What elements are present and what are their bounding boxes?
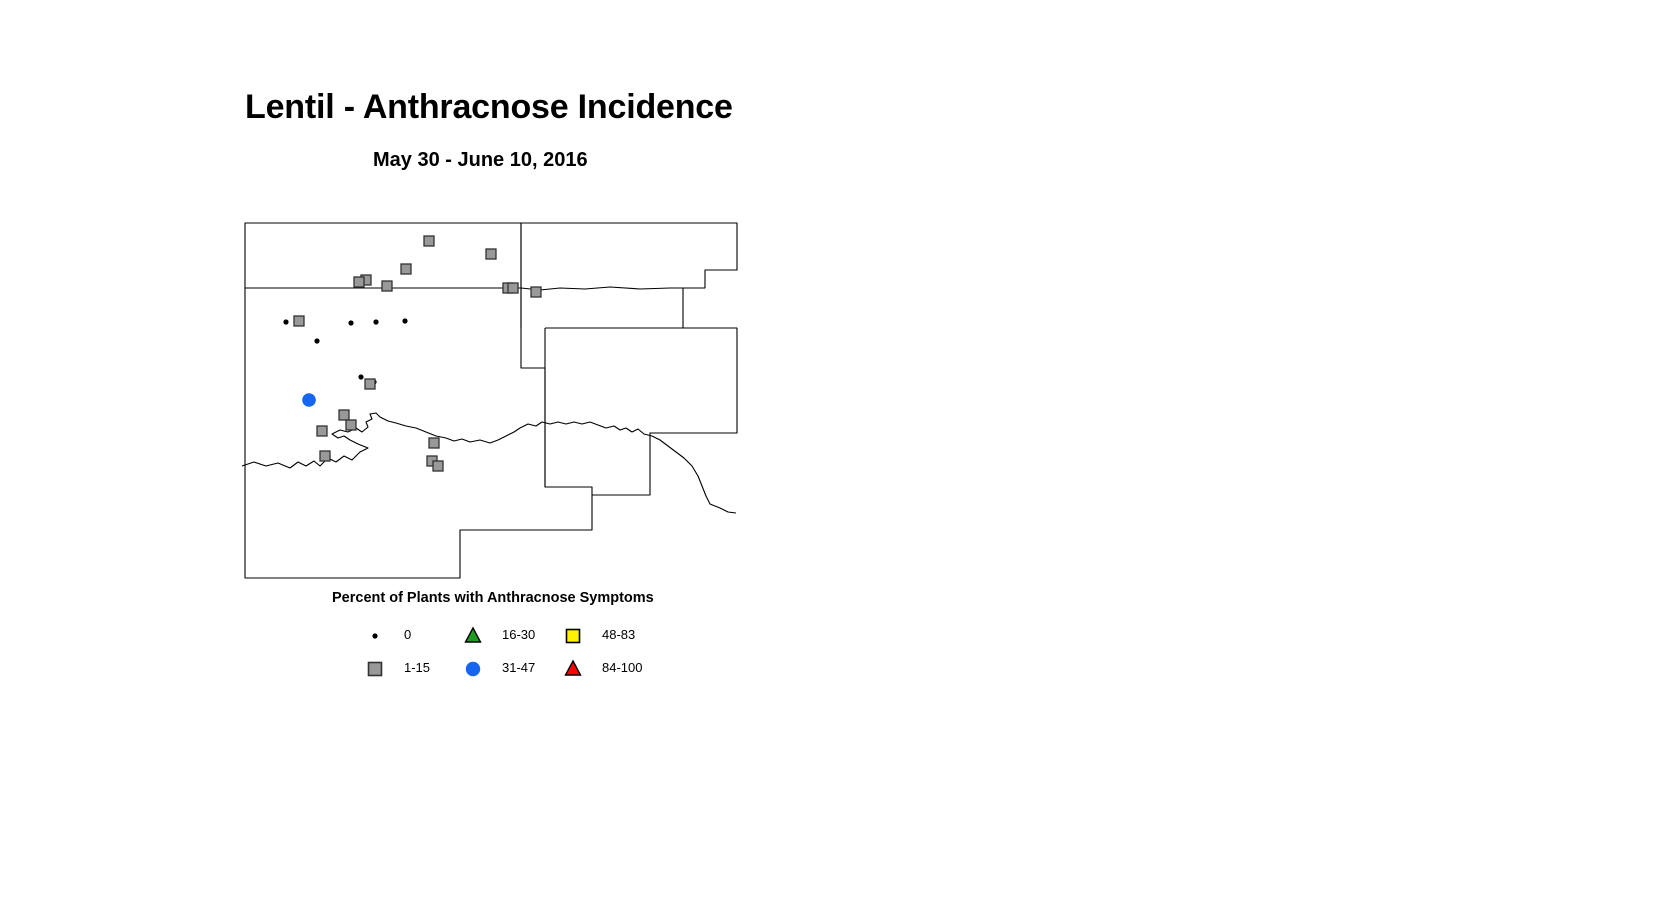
map-point-1-15 bbox=[294, 316, 304, 326]
legend-item-0[interactable]: 0 bbox=[362, 618, 460, 651]
map-point-1-15 bbox=[531, 287, 541, 297]
map-point-1-15 bbox=[429, 438, 439, 448]
figure-root: Lentil - Anthracnose Incidence May 30 - … bbox=[0, 0, 1673, 900]
map-point-1-15 bbox=[433, 461, 443, 471]
map-data-points bbox=[283, 236, 541, 471]
map-point-1-15 bbox=[401, 264, 411, 274]
boundary-north-east bbox=[521, 223, 737, 328]
legend-title: Percent of Plants with Anthracnose Sympt… bbox=[332, 590, 654, 606]
page-subtitle: May 30 - June 10, 2016 bbox=[373, 149, 588, 172]
black-dot-icon bbox=[362, 622, 392, 648]
map-point-0 bbox=[348, 320, 353, 325]
legend-item-label: 16-30 bbox=[502, 627, 535, 642]
legend-grid: 0 16-30 48-83 1-15 31-47 bbox=[362, 618, 732, 684]
legend-item-16-30[interactable]: 16-30 bbox=[460, 618, 560, 651]
yellow-square-icon bbox=[560, 622, 590, 648]
map-point-1-15 bbox=[486, 249, 496, 259]
map-point-0 bbox=[373, 319, 378, 324]
legend-item-84-100[interactable]: 84-100 bbox=[560, 651, 670, 684]
state-line-dashed bbox=[521, 287, 683, 290]
map-point-0 bbox=[314, 338, 319, 343]
legend-item-label: 31-47 bbox=[502, 660, 535, 675]
map-point-1-15 bbox=[339, 410, 349, 420]
red-triangle-icon bbox=[560, 655, 590, 681]
boundary-outer-west bbox=[245, 223, 592, 578]
map-point-1-15 bbox=[382, 281, 392, 291]
boundary-east bbox=[545, 328, 737, 495]
page-title: Lentil - Anthracnose Incidence bbox=[245, 88, 733, 127]
legend-item-48-83[interactable]: 48-83 bbox=[560, 618, 670, 651]
map-point-1-15 bbox=[354, 277, 364, 287]
legend: Percent of Plants with Anthracnose Sympt… bbox=[332, 590, 732, 690]
legend-row: 1-15 31-47 84-100 bbox=[362, 651, 732, 684]
legend-item-label: 0 bbox=[404, 627, 411, 642]
legend-item-31-47[interactable]: 31-47 bbox=[460, 651, 560, 684]
map-point-0 bbox=[283, 319, 288, 324]
legend-item-label: 48-83 bbox=[602, 627, 635, 642]
map-boundaries bbox=[242, 223, 737, 578]
map-point-1-15 bbox=[424, 236, 434, 246]
gray-square-icon bbox=[362, 655, 392, 681]
map-point-0 bbox=[402, 318, 407, 323]
map-point-31-47 bbox=[302, 393, 316, 407]
legend-row: 0 16-30 48-83 bbox=[362, 618, 732, 651]
map-point-1-15 bbox=[346, 420, 356, 430]
legend-item-label: 84-100 bbox=[602, 660, 642, 675]
river-line bbox=[242, 413, 736, 513]
map-point-1-15 bbox=[317, 426, 327, 436]
legend-item-1-15[interactable]: 1-15 bbox=[362, 651, 460, 684]
map-svg bbox=[240, 200, 740, 590]
map-point-1-15 bbox=[365, 379, 375, 389]
map-point-1-15 bbox=[320, 451, 330, 461]
legend-item-label: 1-15 bbox=[404, 660, 430, 675]
blue-circle-icon bbox=[460, 655, 490, 681]
map-point-1-15 bbox=[508, 283, 518, 293]
green-triangle-icon bbox=[460, 622, 490, 648]
map-point-0 bbox=[358, 374, 363, 379]
map-panel bbox=[240, 200, 740, 590]
